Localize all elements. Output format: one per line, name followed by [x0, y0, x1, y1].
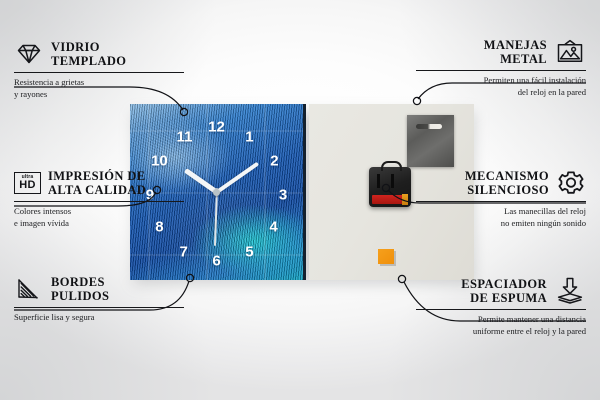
picture-hanger-icon — [554, 39, 586, 65]
clock-numeral-7: 7 — [179, 244, 187, 259]
callout-header: BORDES PULIDOS — [14, 275, 184, 303]
callout-subtitle: Permite mantener una distancia uniforme … — [416, 314, 586, 337]
movement-vent-left — [377, 174, 380, 188]
movement-hanging-loop — [381, 161, 402, 171]
callout-subtitle: Superficie lisa y segura — [14, 312, 184, 323]
clock-numeral-2: 2 — [270, 154, 278, 169]
clock-numeral-1: 1 — [245, 129, 253, 144]
silent-clock-movement — [369, 167, 411, 207]
battery-label — [372, 195, 405, 204]
callout-divider — [14, 72, 184, 73]
hanger-slot — [416, 124, 442, 129]
battery-terminal — [402, 194, 408, 205]
clock-numeral-5: 5 — [245, 244, 253, 259]
callout-espaciador-de-espuma: ESPACIADOR DE ESPUMA Permite mantener un… — [416, 277, 586, 337]
callout-subtitle: Resistencia a grietas y rayones — [14, 77, 184, 100]
gear-icon — [556, 170, 586, 196]
foam-spacer-pad — [378, 249, 394, 264]
callout-header: ultra HD IMPRESIÓN DE ALTA CALIDAD — [14, 169, 184, 197]
callout-subtitle: Permiten una fácil instalación del reloj… — [416, 75, 586, 98]
diamond-icon — [14, 42, 44, 66]
callout-manejas-metal: MANEJAS METAL Permiten una fácil instala… — [416, 38, 586, 98]
callout-subtitle: Colores intensos e imagen vívida — [14, 206, 184, 229]
callout-impresion-alta-calidad: ultra HD IMPRESIÓN DE ALTA CALIDAD Color… — [14, 169, 184, 229]
clock-center-cap — [213, 189, 220, 196]
callout-divider — [416, 70, 586, 71]
callout-subtitle: Las manecillas del reloj no emiten ningú… — [416, 206, 586, 229]
callout-title: MECANISMO SILENCIOSO — [465, 169, 549, 197]
clock-numeral-3: 3 — [279, 187, 287, 202]
callout-title: ESPACIADOR DE ESPUMA — [461, 277, 547, 305]
clock-numeral-10: 10 — [151, 154, 168, 169]
callout-divider — [416, 201, 586, 202]
callout-divider — [14, 201, 184, 202]
clock-numeral-6: 6 — [212, 253, 220, 268]
infographic-canvas: 12 1 2 3 4 5 6 7 8 9 10 11 — [0, 0, 600, 400]
foam-spacer-icon — [554, 277, 586, 305]
callout-header: MANEJAS METAL — [416, 38, 586, 66]
callout-bordes-pulidos: BORDES PULIDOS Superficie lisa y segura — [14, 275, 184, 324]
callout-divider — [416, 309, 586, 310]
callout-divider — [14, 307, 184, 308]
ultra-hd-icon-hd-text: HD — [19, 180, 36, 191]
polished-edges-icon — [14, 277, 44, 301]
callout-title: VIDRIO TEMPLADO — [51, 40, 126, 68]
clock-numeral-4: 4 — [269, 220, 277, 235]
ultra-hd-icon: ultra HD — [14, 172, 41, 194]
movement-vent-right — [391, 174, 394, 188]
callout-vidrio-templado: VIDRIO TEMPLADO Resistencia a grietas y … — [14, 40, 184, 100]
callout-title: MANEJAS METAL — [484, 38, 547, 66]
callout-mecanismo-silencioso: MECANISMO SILENCIOSO Las manecillas del … — [416, 169, 586, 229]
callout-header: MECANISMO SILENCIOSO — [416, 169, 586, 197]
callout-header: VIDRIO TEMPLADO — [14, 40, 184, 68]
callout-header: ESPACIADOR DE ESPUMA — [416, 277, 586, 305]
callout-title: BORDES PULIDOS — [51, 275, 109, 303]
clock-numeral-12: 12 — [208, 119, 225, 134]
callout-title: IMPRESIÓN DE ALTA CALIDAD — [48, 169, 146, 197]
clock-numeral-11: 11 — [177, 129, 193, 144]
metal-hanger-plate — [407, 115, 454, 167]
